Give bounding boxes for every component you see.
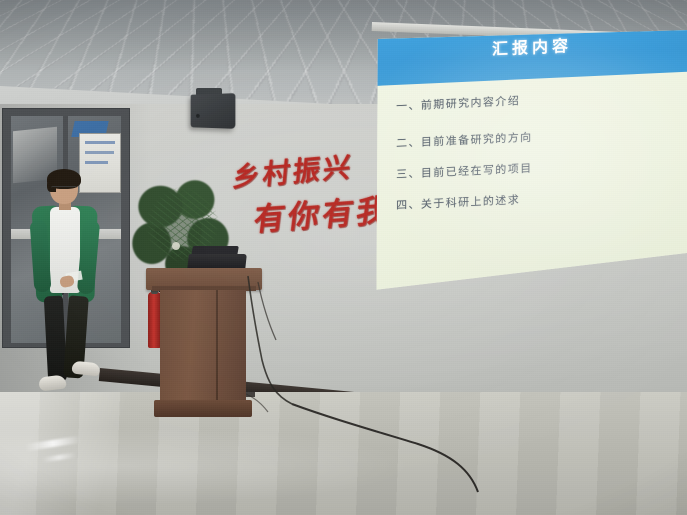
- poster-line: [85, 151, 114, 154]
- podium-base: [154, 400, 252, 417]
- podium-top-surface: [146, 268, 262, 290]
- calligraphy-line-1: 乡村振兴: [231, 145, 355, 195]
- shoe-left: [38, 374, 67, 391]
- slide-bullet-list: 一、前期研究内容介绍 二、目前准备研究的方向 三、目前已经在写的项目 四、关于科…: [396, 85, 674, 228]
- wall-speaker: [191, 93, 236, 129]
- slide-bullet-2: 二、目前准备研究的方向: [396, 122, 674, 151]
- slide-bullet-1: 一、前期研究内容介绍: [396, 85, 674, 114]
- wooden-podium: [146, 268, 262, 420]
- projected-slide: 汇报内容 一、前期研究内容介绍 二、目前准备研究的方向 三、目前已经在写的项目 …: [374, 30, 687, 295]
- wall-calligraphy: 乡村振兴 有你有我: [226, 139, 380, 250]
- poster-line: [85, 141, 115, 144]
- speaker-driver: [196, 114, 200, 118]
- plant-flower: [172, 242, 180, 250]
- podium-body: [160, 290, 246, 402]
- slide-bullet-3: 三、目前已经在写的项目: [396, 153, 674, 182]
- shoe-right: [71, 361, 100, 377]
- floor: [0, 392, 687, 515]
- calligraphy-line-2: 有你有我: [252, 184, 394, 239]
- glasses: [51, 186, 77, 194]
- slide-surface: 汇报内容 一、前期研究内容介绍 二、目前准备研究的方向 三、目前已经在写的项目 …: [374, 30, 687, 295]
- slide-bullet-4: 四、关于科研上的述求: [396, 184, 674, 213]
- floor-reflection: [0, 392, 687, 515]
- person-presenter: [22, 172, 114, 408]
- poster-line: [85, 161, 108, 164]
- presentation-room-photo: 乡村振兴 有你有我 汇报内容 一、前期研究内容介绍 二、目前准备研究的方向 三、…: [0, 0, 687, 515]
- slide-keystone-layer: 汇报内容 一、前期研究内容介绍 二、目前准备研究的方向 三、目前已经在写的项目 …: [374, 16, 687, 295]
